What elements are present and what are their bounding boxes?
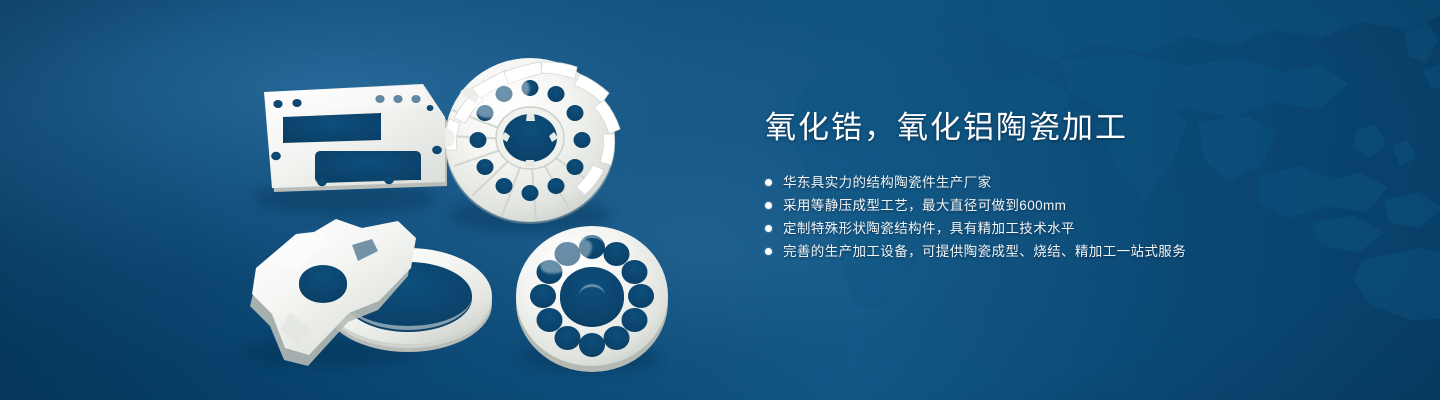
feature-text: 完善的生产加工设备，可提供陶瓷成型、烧结、精加工一站式服务: [783, 240, 1186, 263]
bullet-dot-icon: [765, 225, 772, 232]
feature-text: 采用等静压成型工艺，最大直径可做到600mm: [783, 194, 1066, 217]
feature-text: 定制特殊形状陶瓷结构件，具有精加工技术水平: [783, 217, 1075, 240]
list-item: 采用等静压成型工艺，最大直径可做到600mm: [765, 194, 1385, 217]
feature-text: 华东具实力的结构陶瓷件生产厂家: [783, 171, 992, 194]
list-item: 华东具实力的结构陶瓷件生产厂家: [765, 171, 1385, 194]
banner-headline: 氧化锆，氧化铝陶瓷加工: [765, 108, 1385, 148]
feature-list: 华东具实力的结构陶瓷件生产厂家 采用等静压成型工艺，最大直径可做到600mm 定…: [765, 171, 1385, 263]
bullet-dot-icon: [765, 202, 772, 209]
bullet-dot-icon: [765, 248, 772, 255]
hero-banner: 氧化锆，氧化铝陶瓷加工 华东具实力的结构陶瓷件生产厂家 采用等静压成型工艺，最大…: [0, 0, 1440, 400]
banner-copy: 氧化锆，氧化铝陶瓷加工 华东具实力的结构陶瓷件生产厂家 采用等静压成型工艺，最大…: [765, 108, 1385, 263]
list-item: 定制特殊形状陶瓷结构件，具有精加工技术水平: [765, 217, 1385, 240]
list-item: 完善的生产加工设备，可提供陶瓷成型、烧结、精加工一站式服务: [765, 240, 1385, 263]
bullet-dot-icon: [765, 179, 772, 186]
